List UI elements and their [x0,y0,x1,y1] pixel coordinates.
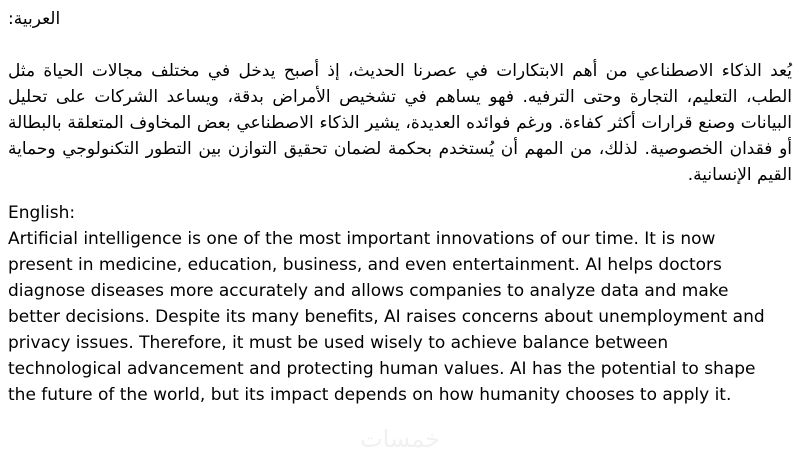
arabic-body-paragraph: يُعد الذكاء الاصطناعي من أهم الابتكارات … [8,58,792,188]
arabic-paragraph-spacer [8,32,792,58]
english-body-paragraph: Artificial intelligence is one of the mo… [8,226,783,408]
english-section: English: Artificial intelligence is one … [0,200,800,408]
english-heading: English: [8,200,792,226]
watermark-khamsat: خمسات [0,424,800,454]
document-page: العربية: يُعد الذكاء الاصطناعي من أهم ال… [0,0,800,460]
arabic-heading: العربية: [8,6,792,32]
arabic-section: العربية: يُعد الذكاء الاصطناعي من أهم ال… [0,0,800,188]
